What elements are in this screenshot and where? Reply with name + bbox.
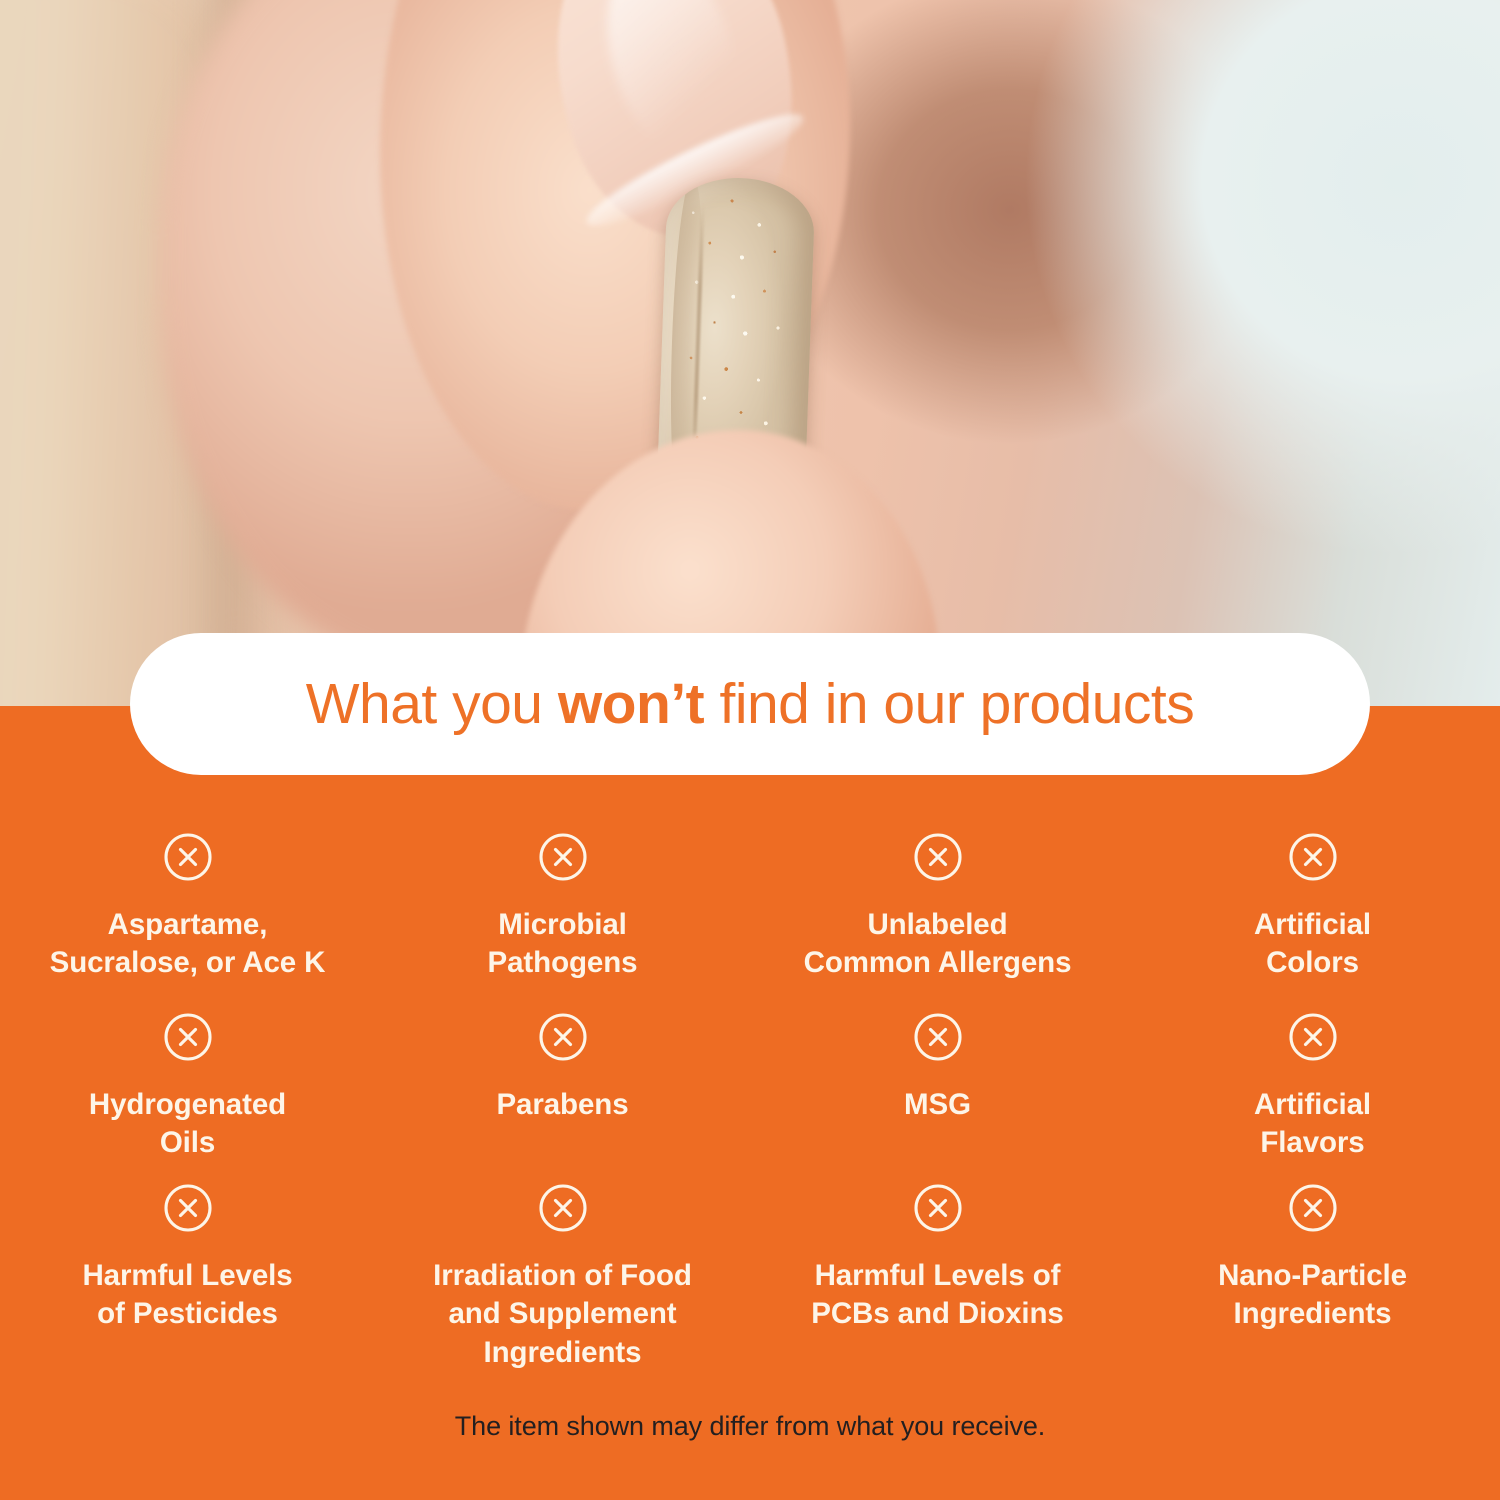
label-line-2: Pathogens (488, 944, 638, 982)
exclusion-item: MSG (750, 1000, 1125, 1171)
label-line-1: Parabens (496, 1086, 628, 1124)
exclusion-label: Artificial Colors (1254, 906, 1371, 983)
exclusion-item: Hydrogenated Oils (0, 1000, 375, 1171)
exclusions-grid: Aspartame, Sucralose, or Ace K Microbial… (0, 820, 1500, 1381)
label-line-2: Oils (89, 1124, 286, 1162)
title-emphasis: won’t (558, 672, 704, 736)
label-line-1: Microbial (488, 906, 638, 944)
circle-x-icon (911, 1181, 965, 1235)
exclusion-label: Aspartame, Sucralose, or Ace K (50, 906, 326, 983)
label-line-1: Harmful Levels of (811, 1257, 1063, 1295)
exclusion-label: Nano-Particle Ingredients (1218, 1257, 1407, 1334)
label-line-1: Nano-Particle (1218, 1257, 1407, 1295)
circle-x-icon (536, 1181, 590, 1235)
circle-x-icon (161, 1010, 215, 1064)
exclusion-label: Artificial Flavors (1254, 1086, 1371, 1163)
label-line-1: Hydrogenated (89, 1086, 286, 1124)
exclusion-label: Harmful Levels of PCBs and Dioxins (811, 1257, 1063, 1334)
label-line-2: PCBs and Dioxins (811, 1295, 1063, 1333)
label-line-1: Artificial (1254, 1086, 1371, 1124)
label-line-2: of Pesticides (82, 1295, 292, 1333)
exclusion-label: Harmful Levels of Pesticides (82, 1257, 292, 1334)
label-line-1: Aspartame, (50, 906, 326, 944)
circle-x-icon (536, 830, 590, 884)
exclusion-item: Nano-Particle Ingredients (1125, 1171, 1500, 1381)
disclaimer-text: The item shown may differ from what you … (0, 1411, 1500, 1442)
exclusion-label: Unlabeled Common Allergens (804, 906, 1072, 983)
exclusion-item: Irradiation of Food and Supplement Ingre… (375, 1171, 750, 1381)
label-line-1: Unlabeled (804, 906, 1072, 944)
circle-x-icon (911, 1010, 965, 1064)
label-line-1: Artificial (1254, 906, 1371, 944)
exclusion-item: Microbial Pathogens (375, 820, 750, 1000)
exclusion-item: Parabens (375, 1000, 750, 1171)
exclusion-item: Unlabeled Common Allergens (750, 820, 1125, 1000)
circle-x-icon (1286, 830, 1340, 884)
title-prefix: What you (306, 672, 558, 736)
label-line-2: Ingredients (1218, 1295, 1407, 1333)
exclusion-item: Artificial Colors (1125, 820, 1500, 1000)
circle-x-icon (1286, 1010, 1340, 1064)
label-line-2: and Supplement (433, 1295, 692, 1333)
label-line-2: Colors (1254, 944, 1371, 982)
circle-x-icon (536, 1010, 590, 1064)
label-line-2: Flavors (1254, 1124, 1371, 1162)
circle-x-icon (161, 1181, 215, 1235)
exclusion-label: Irradiation of Food and Supplement Ingre… (433, 1257, 692, 1372)
exclusion-label: Hydrogenated Oils (89, 1086, 286, 1163)
label-line-1: MSG (904, 1086, 971, 1124)
circle-x-icon (911, 830, 965, 884)
label-line-2: Common Allergens (804, 944, 1072, 982)
exclusion-label: MSG (904, 1086, 971, 1124)
title-suffix: find in our products (704, 672, 1194, 736)
label-line-1: Harmful Levels (82, 1257, 292, 1295)
page-title: What you won’t find in our products (306, 671, 1195, 737)
label-line-1: Irradiation of Food (433, 1257, 692, 1295)
exclusion-item: Harmful Levels of PCBs and Dioxins (750, 1171, 1125, 1381)
circle-x-icon (161, 830, 215, 884)
circle-x-icon (1286, 1181, 1340, 1235)
hero-photo (0, 0, 1500, 712)
exclusion-label: Microbial Pathogens (488, 906, 638, 983)
label-line-3: Ingredients (433, 1334, 692, 1372)
title-pill: What you won’t find in our products (130, 633, 1370, 775)
exclusion-item: Aspartame, Sucralose, or Ace K (0, 820, 375, 1000)
exclusion-label: Parabens (496, 1086, 628, 1124)
exclusion-item: Artificial Flavors (1125, 1000, 1500, 1171)
label-line-2: Sucralose, or Ace K (50, 944, 326, 982)
exclusion-item: Harmful Levels of Pesticides (0, 1171, 375, 1381)
